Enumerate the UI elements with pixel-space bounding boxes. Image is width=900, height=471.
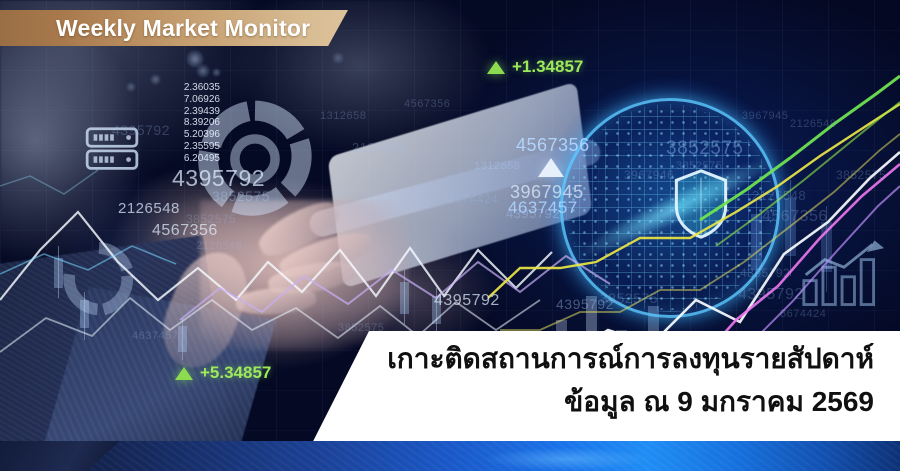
ticker-value: 4567356	[762, 208, 828, 226]
ticker-value: 4395792	[740, 266, 790, 280]
ticker-value: 4395792	[112, 122, 170, 138]
ticker-value: 3852575	[666, 138, 743, 160]
mover-top: +1.34857	[487, 57, 583, 77]
headline-panel: เกาะติดสถานการณ์การลงทุนรายสัปดาห์ ข้อมู…	[300, 331, 900, 441]
quote-value: 2.39439	[150, 106, 220, 118]
ticker-value: 4567356	[404, 98, 450, 110]
promo-banner-image: 2.36035 7.06926 2.39439 8.39206 5.20396 …	[0, 0, 900, 471]
headline-line-2: ข้อมูล ณ 9 มกราคม 2569	[387, 381, 874, 423]
ticker-value: 2126548	[790, 118, 836, 130]
ticker-value: 4395792	[738, 286, 804, 304]
quote-value: 2.36035	[150, 82, 220, 94]
headline-line-1: เกาะติดสถานการณ์การลงทุนรายสัปดาห์	[387, 337, 874, 381]
mover-value: +1.34857	[512, 57, 583, 77]
ticker-value: 4395792	[434, 292, 500, 310]
mover-bottom: +5.34857	[175, 363, 271, 383]
banner-title: Weekly Market Monitor	[56, 15, 310, 42]
ticker-value: 4395792	[506, 206, 560, 221]
ticker-value: 3852575	[836, 168, 886, 182]
ticker-value: 2126548	[352, 140, 406, 155]
headline-text-group: เกาะติดสถานการณ์การลงทุนรายสัปดาห์ ข้อมู…	[387, 337, 874, 423]
triangle-up-icon	[175, 367, 193, 380]
ticker-value: 1312658	[474, 160, 520, 172]
indicator-triangle-white	[538, 158, 564, 177]
ticker-value: 4567356	[516, 135, 590, 156]
ticker-value: 1312658	[320, 110, 366, 122]
ticker-value: 3967946	[624, 168, 674, 182]
ticker-value: 4637457	[132, 330, 178, 342]
quote-value: 2.35595	[150, 141, 220, 153]
ticker-value: 8674424	[780, 308, 826, 320]
ticker-value: 3852575	[600, 290, 658, 306]
quote-value: 7.06926	[150, 94, 220, 106]
ticker-value: 2126548	[118, 200, 180, 217]
triangle-up-icon	[487, 61, 505, 74]
quote-value: 6.20495	[150, 153, 220, 165]
ticker-value: 3967945	[742, 110, 788, 122]
ticker-value: 2126548	[752, 188, 806, 203]
bottom-color-band	[0, 441, 900, 471]
ticker-value: 3852575	[676, 160, 722, 172]
mover-value: +5.34857	[200, 363, 271, 383]
banner-strip: Weekly Market Monitor	[0, 10, 348, 46]
ticker-value: 8674424	[448, 192, 498, 206]
ticker-value: 3852575	[212, 188, 270, 204]
ticker-value: 3852575	[186, 212, 236, 226]
ticker-value: 2126548	[196, 240, 242, 252]
